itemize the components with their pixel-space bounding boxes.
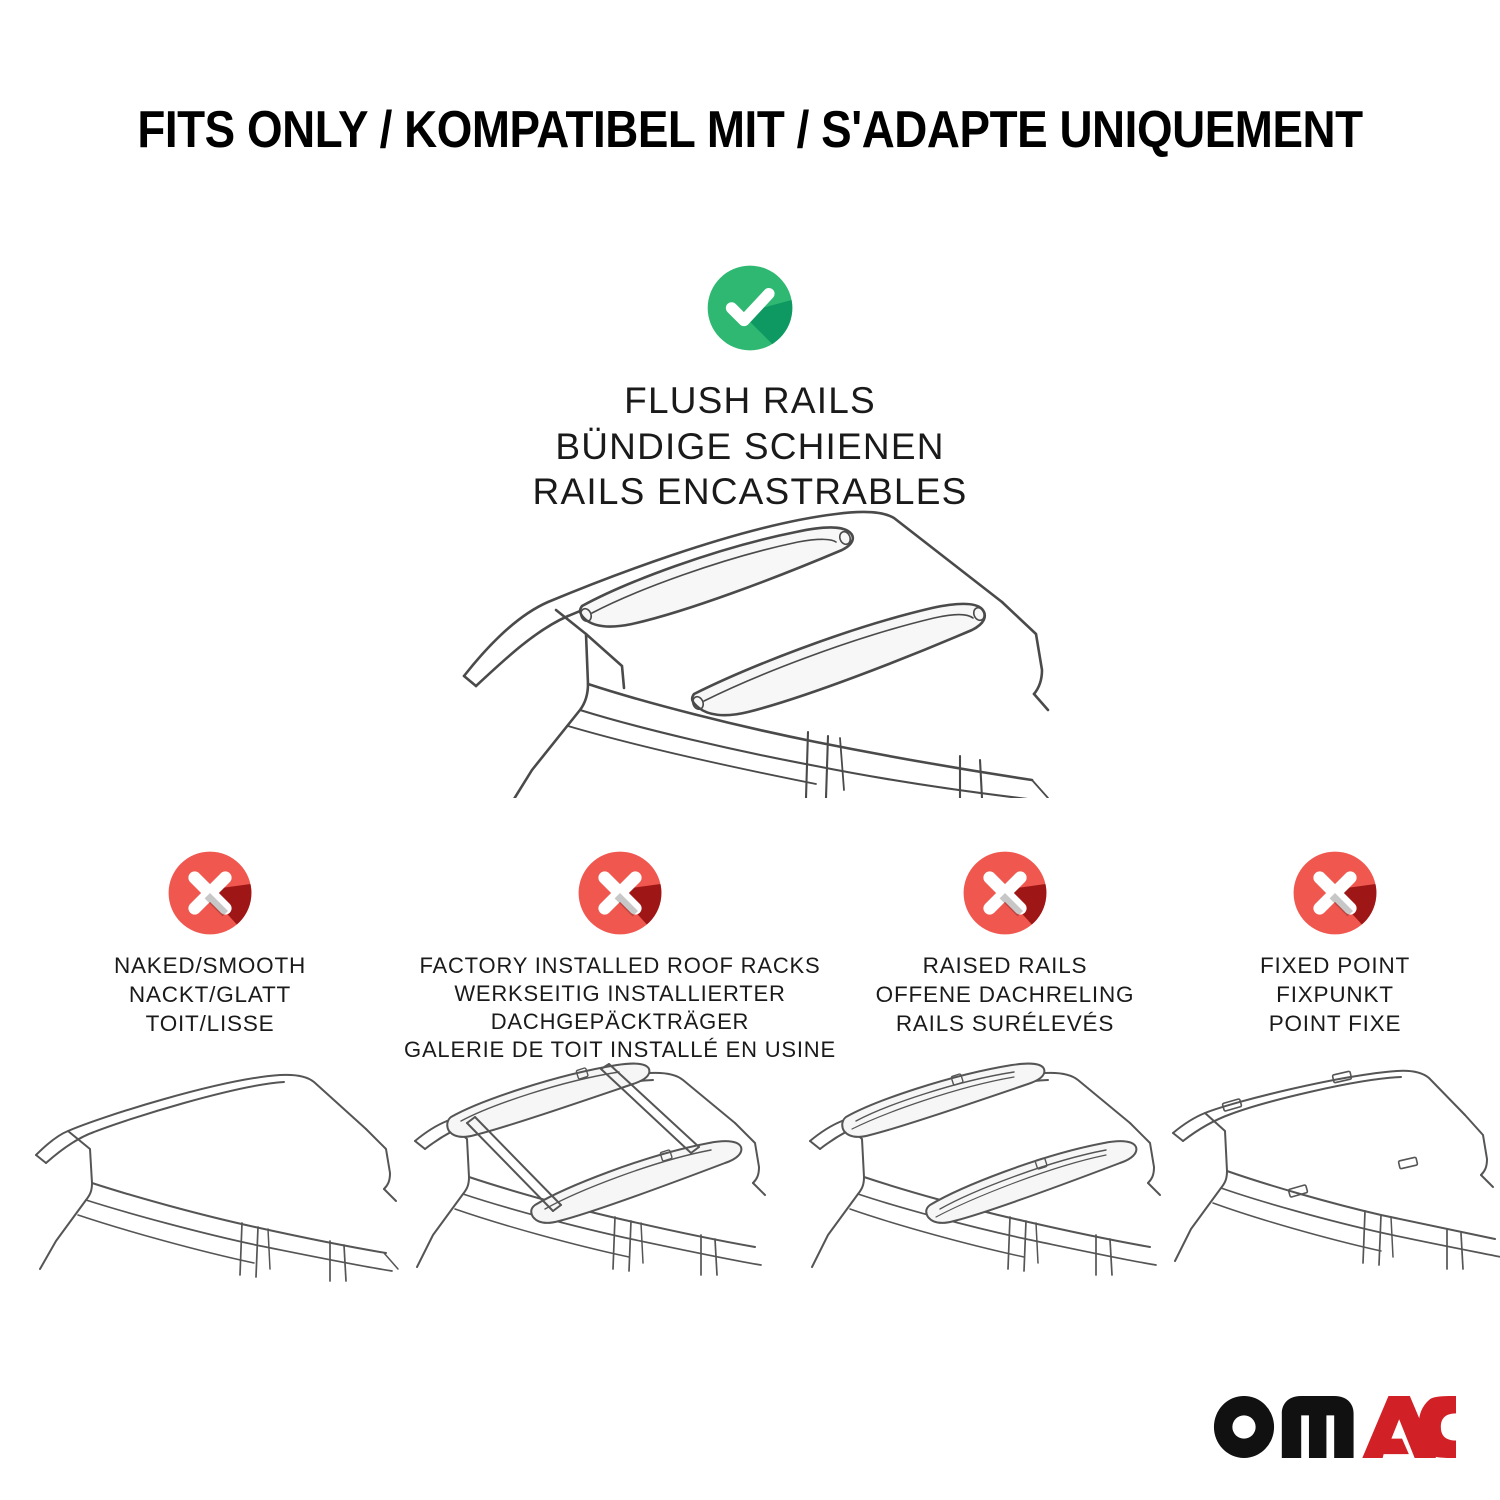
incompatible-label-de-1: WERKSEITIG INSTALLIERTER: [395, 980, 845, 1008]
car-roof-naked-illustration: [30, 1055, 410, 1285]
compatible-label-de: BÜNDIGE SCHIENEN: [0, 424, 1500, 470]
incompatible-illustrations: [0, 1055, 1500, 1285]
check-circle-icon: [704, 262, 796, 354]
incompatible-item-naked-smooth: NAKED/SMOOTH NACKT/GLATT TOIT/LISSE: [55, 848, 365, 1038]
incompatible-labels: RAISED RAILS OFFENE DACHRELING RAILS SUR…: [845, 952, 1165, 1038]
incompatible-labels: FIXED POINT FIXPUNKT POINT FIXE: [1185, 952, 1485, 1038]
incompatible-item-factory-installed-roof-racks: FACTORY INSTALLED ROOF RACKS WERKSEITIG …: [395, 848, 845, 1065]
incompatible-label-de-2: DACHGEPÄCKTRÄGER: [395, 1008, 845, 1036]
car-roof-fixed-point-illustration: [1165, 1055, 1500, 1285]
incompatible-labels: NAKED/SMOOTH NACKT/GLATT TOIT/LISSE: [55, 952, 365, 1038]
compatible-labels: FLUSH RAILS BÜNDIGE SCHIENEN RAILS ENCAS…: [0, 378, 1500, 515]
car-roof-with-factory-crossbars-illustration: [405, 1055, 800, 1285]
cross-circle-icon: [960, 848, 1050, 938]
incompatible-labels: FACTORY INSTALLED ROOF RACKS WERKSEITIG …: [395, 952, 845, 1065]
incompatible-label-en: RAISED RAILS: [845, 952, 1165, 981]
incompatible-sections: NAKED/SMOOTH NACKT/GLATT TOIT/LISSE FACT…: [0, 848, 1500, 1058]
incompatible-label-de: NACKT/GLATT: [55, 981, 365, 1010]
incompatible-label-en: FIXED POINT: [1185, 952, 1485, 981]
incompatible-label-en: FACTORY INSTALLED ROOF RACKS: [395, 952, 845, 980]
cross-circle-icon: [575, 848, 665, 938]
compatible-label-en: FLUSH RAILS: [0, 378, 1500, 424]
cross-circle-icon: [1290, 848, 1380, 938]
incompatible-label-en: NAKED/SMOOTH: [55, 952, 365, 981]
page-title: FITS ONLY / KOMPATIBEL MIT / S'ADAPTE UN…: [90, 104, 1410, 156]
incompatible-label-de: FIXPUNKT: [1185, 981, 1485, 1010]
header: FITS ONLY / KOMPATIBEL MIT / S'ADAPTE UN…: [0, 104, 1500, 156]
omac-logo-icon: [1212, 1394, 1456, 1458]
incompatible-label-fr: TOIT/LISSE: [55, 1010, 365, 1039]
incompatible-item-fixed-point: FIXED POINT FIXPUNKT POINT FIXE: [1185, 848, 1485, 1038]
incompatible-label-fr: RAILS SURÉLEVÉS: [845, 1010, 1165, 1039]
brand-logo: [1212, 1394, 1456, 1458]
incompatible-label-de: OFFENE DACHRELING: [845, 981, 1165, 1010]
incompatible-item-raised-rails: RAISED RAILS OFFENE DACHRELING RAILS SUR…: [845, 848, 1165, 1038]
incompatible-label-fr: POINT FIXE: [1185, 1010, 1485, 1039]
compatible-section: FLUSH RAILS BÜNDIGE SCHIENEN RAILS ENCAS…: [0, 262, 1500, 515]
cross-circle-icon: [165, 848, 255, 938]
car-roof-with-raised-rails-illustration: [800, 1055, 1195, 1285]
car-roof-with-flush-rails-illustration: [436, 498, 1076, 798]
